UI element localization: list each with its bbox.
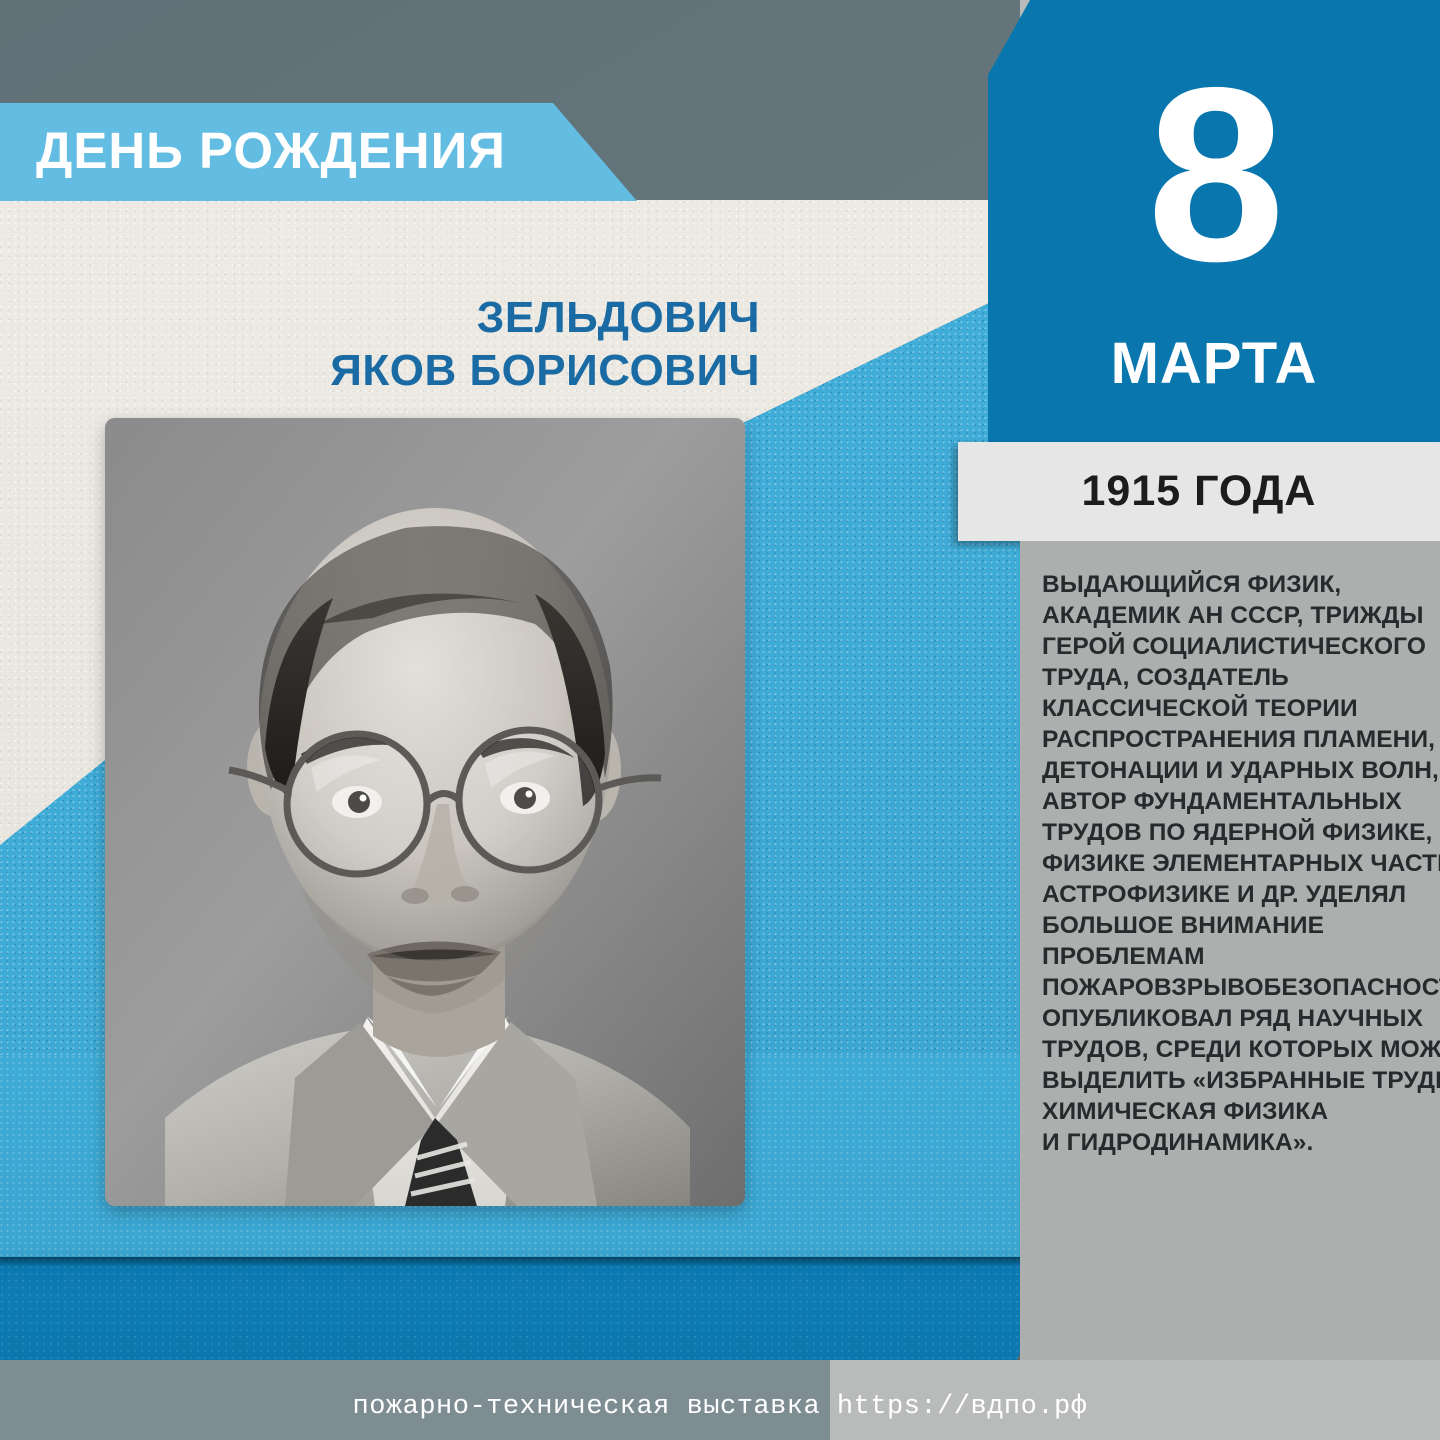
person-name-block: ЗЕЛЬДОВИЧ ЯКОВ БОРИСОВИЧ (0, 292, 760, 398)
poster-canvas: ДЕНЬ РОЖДЕНИЯ ЗЕЛЬДОВИЧ ЯКОВ БОРИСОВИЧ (0, 0, 1440, 1440)
description-line: И ГИДРОДИНАМИКА». (1042, 1128, 1412, 1159)
description-line: ОПУБЛИКОВАЛ РЯД НАУЧНЫХ (1042, 1004, 1412, 1035)
description-text: ВЫДАЮЩИЙСЯ ФИЗИК, АКАДЕМИК АН СССР, ТРИЖ… (1042, 570, 1412, 1159)
description-line: АСТРОФИЗИКЕ И ДР. УДЕЛЯЛ (1042, 880, 1412, 911)
footer-caption: пожарно-техническая выставка https://вдп… (0, 1392, 1440, 1422)
description-line: ДЕТОНАЦИИ И УДАРНЫХ ВОЛН, (1042, 756, 1412, 787)
date-month: МАРТА (988, 330, 1440, 397)
portrait-photo (105, 418, 745, 1206)
description-line: ВЫДАЮЩИЙСЯ ФИЗИК, (1042, 570, 1412, 601)
description-line: РАСПРОСТРАНЕНИЯ ПЛАМЕНИ, (1042, 725, 1412, 756)
description-line: ВЫДЕЛИТЬ «ИЗБРАННЫЕ ТРУДЫ. (1042, 1066, 1412, 1097)
portrait-illustration (105, 418, 745, 1206)
description-line: ТРУДА, СОЗДАТЕЛЬ (1042, 663, 1412, 694)
card-dark-blue-base (0, 1257, 1020, 1365)
description-line: АВТОР ФУНДАМЕНТАЛЬНЫХ (1042, 787, 1412, 818)
description-line: ТРУДОВ ПО ЯДЕРНОЙ ФИЗИКЕ, (1042, 818, 1412, 849)
description-line: АКАДЕМИК АН СССР, ТРИЖДЫ (1042, 601, 1412, 632)
description-line: ПРОБЛЕМАМ (1042, 942, 1412, 973)
date-day: 8 (988, 50, 1440, 298)
description-line: ТРУДОВ, СРЕДИ КОТОРЫХ МОЖНО (1042, 1035, 1412, 1066)
description-line: БОЛЬШОЕ ВНИМАНИЕ (1042, 911, 1412, 942)
person-surname: ЗЕЛЬДОВИЧ (0, 292, 760, 345)
description-line: ПОЖАРОВЗРЫВОБЕЗОПАСНОСТИ. (1042, 973, 1412, 1004)
description-line: ФИЗИКЕ ЭЛЕМЕНТАРНЫХ ЧАСТИЦ, (1042, 849, 1412, 880)
header-tab-label: ДЕНЬ РОЖДЕНИЯ (36, 121, 506, 180)
person-given-names: ЯКОВ БОРИСОВИЧ (0, 345, 760, 398)
description-line: КЛАССИЧЕСКОЙ ТЕОРИИ (1042, 694, 1412, 725)
header-tab: ДЕНЬ РОЖДЕНИЯ (0, 103, 640, 201)
date-panel: 8 МАРТА (988, 0, 1440, 442)
description-line: ХИМИЧЕСКАЯ ФИЗИКА (1042, 1097, 1412, 1128)
date-year: 1915 ГОДА (1082, 467, 1317, 516)
description-line: ГЕРОЙ СОЦИАЛИСТИЧЕСКОГО (1042, 632, 1412, 663)
date-year-panel: 1915 ГОДА (958, 442, 1440, 541)
